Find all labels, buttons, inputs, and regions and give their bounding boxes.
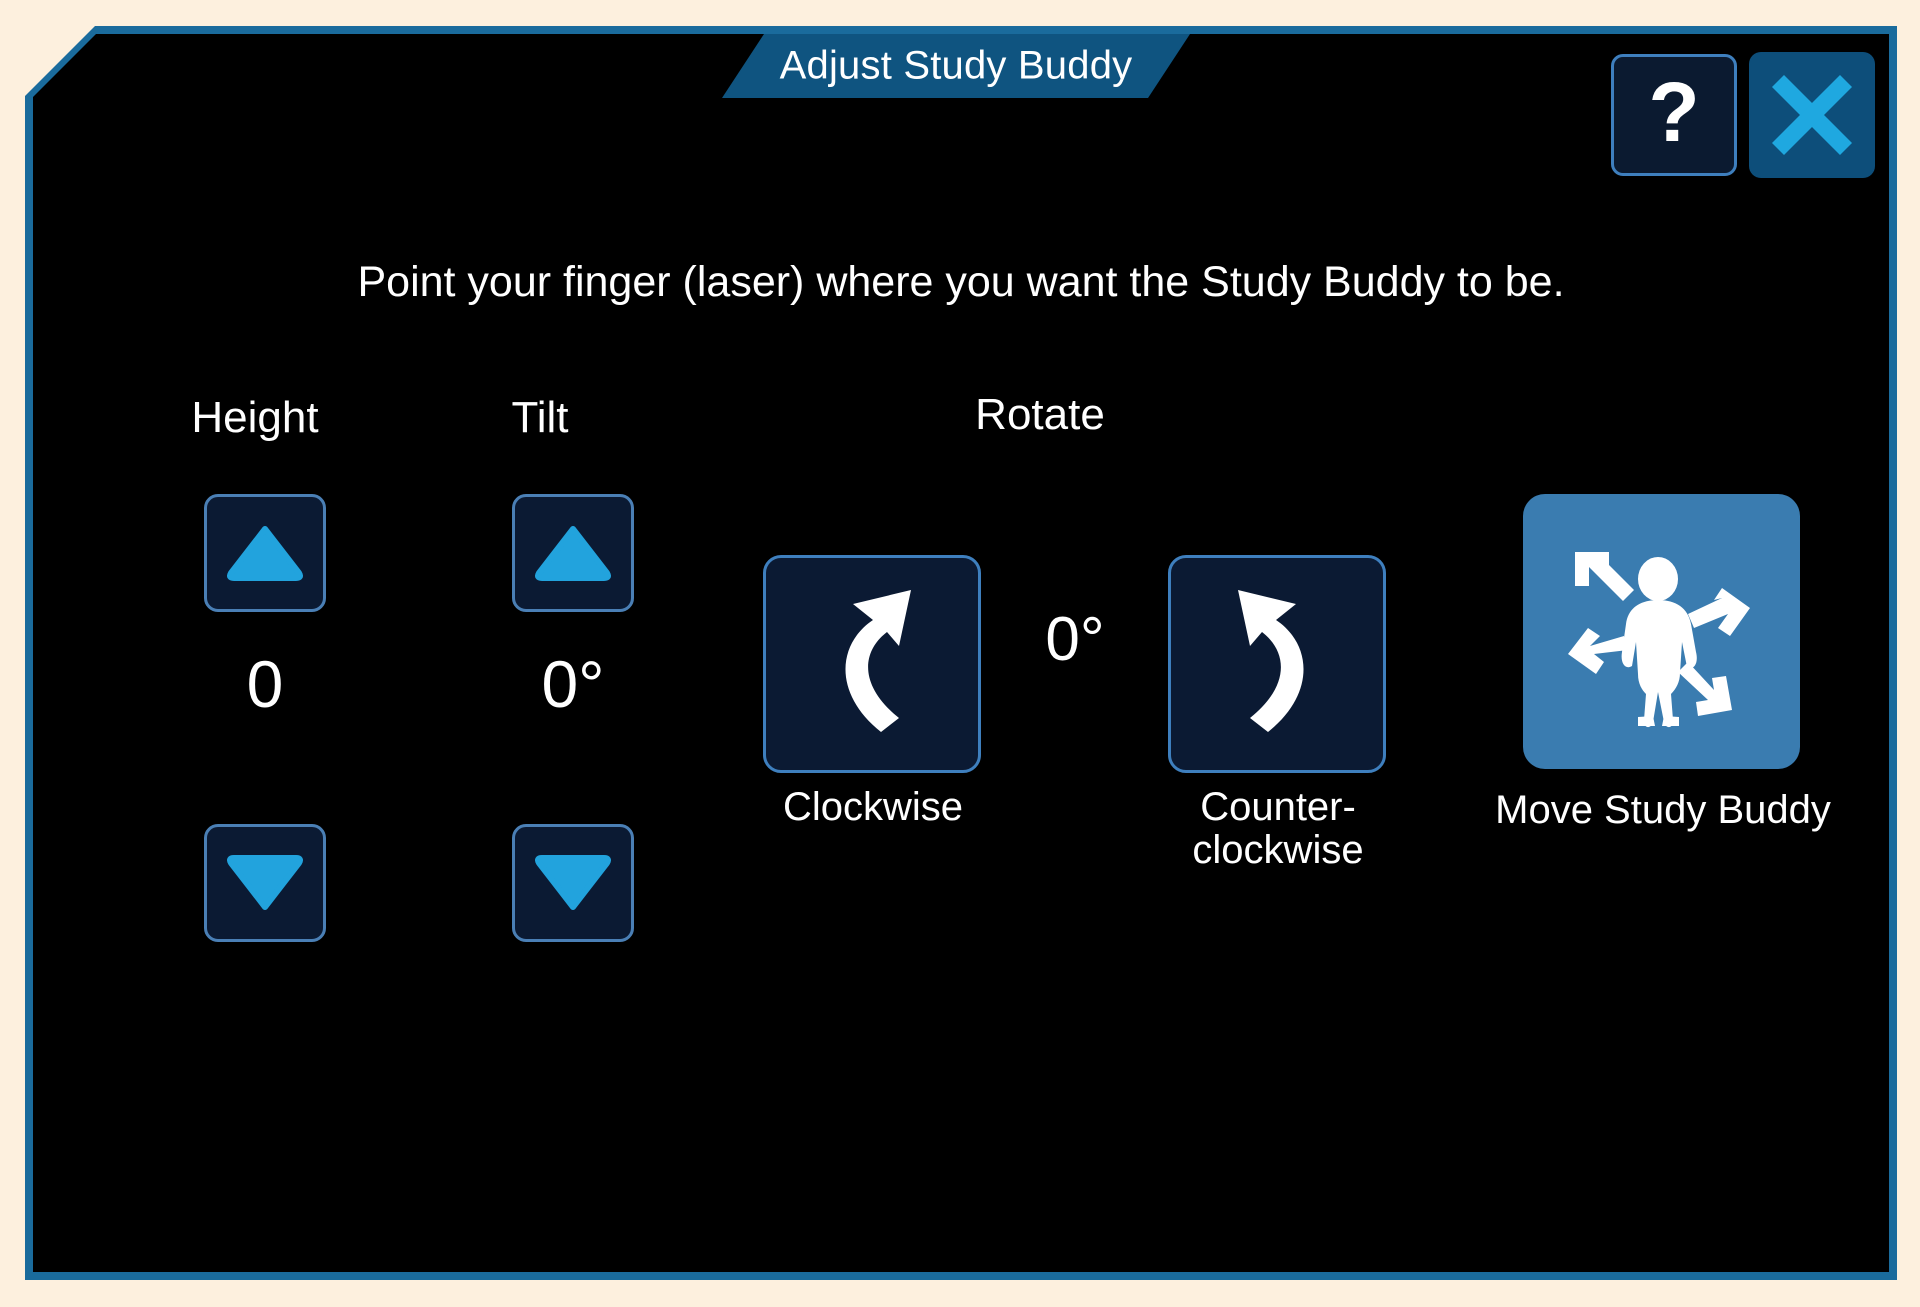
height-label: Height [130,393,380,443]
rotate-counterclockwise-button[interactable] [1168,555,1386,773]
close-x-icon [1769,72,1855,158]
rotate-label: Rotate [890,390,1190,440]
rotate-counterclockwise-label: Counter- clockwise [1118,786,1438,872]
triangle-up-icon [227,525,303,581]
rotate-counterclockwise-arrow-icon [1212,582,1342,747]
rotate-clockwise-label: Clockwise [713,786,1033,829]
move-study-buddy-button[interactable] [1523,494,1800,769]
height-value: 0 [140,646,390,722]
triangle-up-icon [535,525,611,581]
instruction-text: Point your finger (laser) where you want… [25,258,1897,307]
title-bar: Adjust Study Buddy [722,34,1190,98]
triangle-down-icon [535,855,611,911]
screen-root: Adjust Study Buddy ? Point your finger (… [0,0,1920,1307]
height-increase-button[interactable] [204,494,326,612]
tilt-decrease-button[interactable] [512,824,634,942]
dialog-content: Adjust Study Buddy ? Point your finger (… [25,26,1897,1280]
tilt-value: 0° [448,646,698,722]
move-study-buddy-label: Move Study Buddy [1443,788,1883,833]
rotate-clockwise-button[interactable] [763,555,981,773]
close-button[interactable] [1749,52,1875,178]
window-title: Adjust Study Buddy [722,44,1190,89]
question-mark-icon: ? [1648,70,1699,154]
help-button[interactable]: ? [1611,54,1737,176]
triangle-down-icon [227,855,303,911]
tilt-label: Tilt [440,393,640,443]
person-with-directional-arrows-icon [1554,524,1769,739]
rotate-value: 0° [985,604,1165,675]
tilt-increase-button[interactable] [512,494,634,612]
rotate-clockwise-arrow-icon [807,582,937,747]
height-decrease-button[interactable] [204,824,326,942]
